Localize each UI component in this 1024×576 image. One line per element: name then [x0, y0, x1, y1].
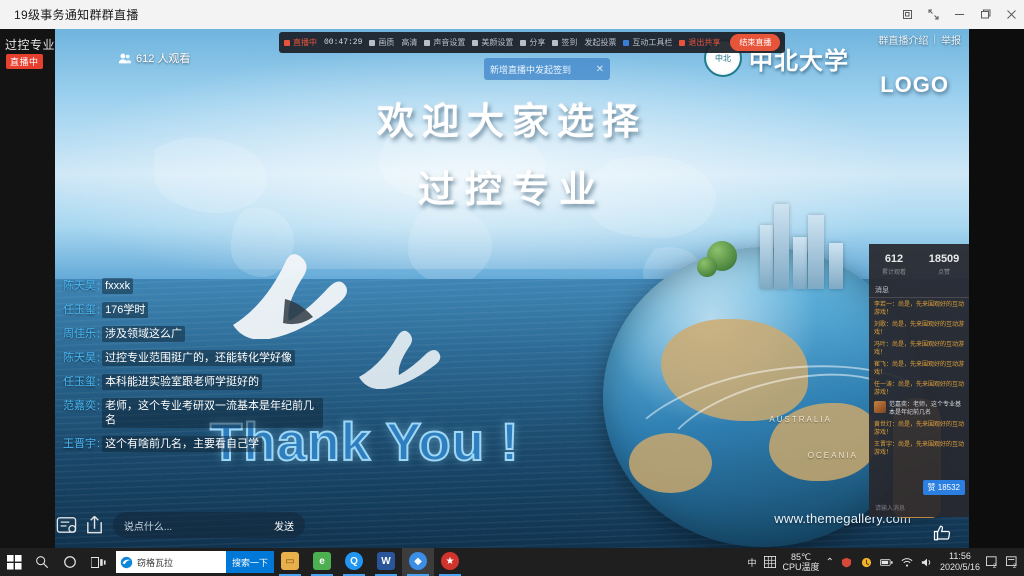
ime-keyboard-icon[interactable]: [763, 555, 777, 569]
camera-icon: [369, 40, 375, 46]
taskbar-app-red-flag[interactable]: ★: [434, 548, 466, 576]
close-icon[interactable]: ✕: [596, 64, 604, 75]
red-star-icon: ★: [441, 552, 459, 570]
chat-message: 范嘉奕: 老师，这个专业考研双一流基本是年纪前几名: [63, 398, 323, 428]
toolbar-item-sound[interactable]: 声音设置: [424, 37, 465, 48]
folder-icon: ▭: [281, 552, 299, 570]
toolbar-item-live[interactable]: 直播中: [284, 37, 317, 48]
toolbar-item-hd[interactable]: 高清: [401, 37, 417, 48]
chat-text: 本科能进实验室跟老师学挺好的: [102, 374, 262, 390]
panel-tab-messages[interactable]: 消息: [869, 282, 969, 298]
city-building: [829, 243, 843, 289]
stat-value: 18509: [919, 253, 969, 265]
chat-text: 这个有啥前几名，主要看自己学: [102, 436, 262, 452]
like-thumb-icon[interactable]: [933, 524, 951, 542]
danmu-item: 黄世灯：尚是，先来围观好的互动游戏！: [874, 421, 964, 437]
toolbar-label: 声音设置: [433, 37, 465, 48]
like-count-label: 赞 18532: [928, 482, 960, 493]
danmu-message-list[interactable]: 李若一：尚是，先来围观好的互动游戏！ 刘歌：尚是，先来围观好的互动游戏！ 冯叶：…: [869, 298, 969, 464]
chat-colon: :: [97, 327, 100, 341]
send-button[interactable]: 发送: [274, 518, 294, 533]
chat-text: 176学时: [102, 302, 148, 318]
green-browser-icon: e: [313, 552, 331, 570]
toolbar-item-quality[interactable]: 画质: [369, 37, 394, 48]
chat-message: 王晋宇: 这个有啥前几名，主要看自己学: [63, 436, 323, 452]
people-icon: [118, 52, 131, 65]
notification-toast: 新增直播中发起签到 ✕: [484, 58, 610, 80]
toolbar-label: 退出共享: [688, 37, 720, 48]
avatar: [874, 401, 886, 413]
location-pin-icon: [552, 40, 558, 46]
viewer-count: 612 人观看: [118, 50, 190, 66]
security-icon[interactable]: [840, 555, 854, 569]
chat-author: 任玉玺: [63, 375, 96, 389]
toolbar-item-beauty[interactable]: 美颜设置: [472, 37, 513, 48]
battery-icon[interactable]: [880, 555, 894, 569]
search-icon[interactable]: [28, 548, 56, 576]
danmu-item: 刘歌：尚是，先来围观好的互动游戏！: [874, 321, 964, 337]
channel-name: 过控专业: [5, 36, 55, 53]
stat-label: 点赞: [919, 267, 969, 276]
volume-icon[interactable]: [920, 555, 934, 569]
svg-text:2: 2: [993, 562, 997, 568]
screenshot-button[interactable]: [894, 0, 920, 29]
chat-colon: :: [97, 375, 100, 389]
chat-text: 过控专业范围挺广的，还能转化学好像: [102, 350, 295, 366]
stat-total-viewers: 612 累计观看: [869, 253, 919, 276]
svg-text:2: 2: [1013, 562, 1017, 568]
chat-text: fxxxk: [102, 278, 133, 294]
tree-graphic: [697, 257, 717, 277]
ime-indicator[interactable]: 中: [748, 556, 757, 569]
danmu-item: 崔飞：尚是，先来围观好的互动游戏！: [874, 361, 964, 377]
chat-colon: :: [97, 399, 100, 413]
share-screen-icon: [520, 40, 526, 46]
toolbar-label: 互动工具栏: [632, 37, 672, 48]
toolbar-label: 发起投票: [584, 37, 616, 48]
danmu-item: 王晋宇：尚是，先来围观好的互动游戏！: [874, 441, 964, 457]
bird-graphic: [355, 319, 445, 389]
city-building: [793, 237, 807, 289]
like-count-badge[interactable]: 赞 18532: [923, 480, 965, 495]
window-title: 19级事务通知群群直播: [0, 6, 139, 23]
danmu-item-with-avatar: 范嘉奕：老师，这个专业基本是年纪前几名: [874, 401, 964, 417]
chat-message: 陈天昊: 过控专业范围挺广的，还能转化学好像: [63, 350, 323, 366]
chat-input-field[interactable]: 说点什么... 发送: [113, 512, 305, 538]
search-query-text: 窃格瓦拉: [137, 556, 173, 569]
chat-author: 陈天昊: [63, 351, 96, 365]
system-tray: 中 85℃ CPU温度 ⌃ 11:56 2020/5/16 2 2: [748, 551, 1024, 573]
chat-overlay-messages: 陈天昊: fxxxk 任玉玺: 176学时 周佳乐: 涉及领域这么广 陈天昊: …: [63, 278, 323, 460]
chat-colon: :: [97, 279, 100, 293]
stat-label: 累计观看: [869, 267, 919, 276]
chat-message: 陈天昊: fxxxk: [63, 278, 323, 294]
windows-start-icon[interactable]: [0, 548, 28, 576]
toolbar-label: 直播中: [293, 37, 317, 48]
stream-elapsed-time: 00:47:29: [324, 38, 362, 47]
cpu-temp-label: CPU温度: [783, 562, 820, 572]
taskbar-search-button[interactable]: 搜索一下: [226, 551, 274, 573]
chat-input-placeholder: 说点什么...: [124, 518, 172, 533]
toast-message: 新增直播中发起签到: [490, 63, 571, 76]
chat-colon: :: [97, 437, 100, 451]
notification-count-icon[interactable]: 2: [986, 555, 1000, 569]
close-button[interactable]: [998, 0, 1024, 29]
city-building: [774, 204, 789, 289]
live-stream-app: 过控专业 直播中: [0, 29, 1024, 548]
taskbar-clock[interactable]: 11:56 2020/5/16: [940, 551, 980, 573]
city-building: [760, 225, 773, 289]
maximize-button[interactable]: [972, 0, 998, 29]
danmu-item: 冯叶：尚是，先来围观好的互动游戏！: [874, 341, 964, 357]
chat-message: 任玉玺: 176学时: [63, 302, 323, 318]
task-view-icon[interactable]: [84, 548, 112, 576]
minimize-button[interactable]: [946, 0, 972, 29]
stats-danmu-panel: 612 累计观看 18509 点赞 消息 李若一：尚是，先来围观好的互动游戏！ …: [869, 244, 969, 517]
toolbar-label: 分享: [529, 37, 545, 48]
toolbar-label: 美颜设置: [481, 37, 513, 48]
link-separator: |: [933, 34, 936, 45]
chat-author: 任玉玺: [63, 303, 96, 317]
danmu-item: 李若一：尚是，先来围观好的互动游戏！: [874, 301, 964, 317]
toolbar-item-signin[interactable]: 签到: [552, 37, 577, 48]
toolbar-label: 签到: [561, 37, 577, 48]
video-stage[interactable]: AUSTRALIA OCEANIA 欢迎大: [55, 29, 969, 548]
message-list-icon[interactable]: [55, 513, 78, 537]
chat-author: 王晋宇: [63, 437, 96, 451]
window-title-bar: 19级事务通知群群直播: [0, 0, 1024, 29]
taskbar-search-box[interactable]: 窃格瓦拉: [116, 551, 226, 573]
taskbar-app-wps-writer[interactable]: W: [370, 548, 402, 576]
chat-colon: :: [97, 351, 100, 365]
chat-text: 老师，这个专业考研双一流基本是年纪前几名: [102, 398, 323, 428]
window-controls: [894, 0, 1024, 29]
taskbar-app-qq-messenger[interactable]: ◆: [402, 548, 434, 576]
chat-author: 范嘉奕: [63, 399, 96, 413]
qq-penguin-icon: ◆: [409, 552, 427, 570]
stat-likes: 18509 点赞: [919, 253, 969, 276]
cortana-icon[interactable]: [56, 548, 84, 576]
live-intro-link[interactable]: 群直播介绍: [878, 32, 928, 47]
taskbar-app-qq-browser[interactable]: Q: [338, 548, 370, 576]
interactive-tools-icon: [623, 40, 629, 46]
city-building: [808, 215, 824, 289]
action-center-icon[interactable]: 2: [1006, 555, 1020, 569]
chat-message: 周佳乐: 涉及领域这么广: [63, 326, 323, 342]
toolbar-item-exit-share[interactable]: 退出共享: [679, 37, 720, 48]
live-dot-icon: [284, 40, 290, 46]
exit-icon: [679, 40, 685, 46]
viewer-count-label: 612 人观看: [136, 50, 190, 66]
edge-icon: [120, 556, 133, 569]
microphone-icon: [424, 40, 430, 46]
chat-text: 涉及领域这么广: [102, 326, 185, 342]
taskbar-app-wechat-green[interactable]: e: [306, 548, 338, 576]
chevron-up-icon[interactable]: ⌃: [826, 557, 834, 568]
toolbar-item-interactive[interactable]: 互动工具栏: [623, 37, 672, 48]
top-right-links: 群直播介绍 | 举报: [878, 32, 961, 47]
chat-author: 陈天昊: [63, 279, 96, 293]
toolbar-item-share[interactable]: 分享: [520, 37, 545, 48]
chat-author: 周佳乐: [63, 327, 96, 341]
cpu-temp-value: 85℃: [783, 552, 820, 562]
beauty-icon: [472, 40, 478, 46]
chat-input-bar: 说点什么... 发送: [55, 508, 305, 542]
cpu-temperature-widget[interactable]: 85℃ CPU温度: [783, 552, 820, 572]
report-link[interactable]: 举报: [941, 32, 961, 47]
taskbar-app-file-explorer[interactable]: ▭: [274, 548, 306, 576]
clock-date: 2020/5/16: [940, 562, 980, 573]
left-rail: 过控专业 直播中: [0, 29, 55, 548]
live-status-badge: 直播中: [6, 54, 43, 69]
stats-row: 612 累计观看 18509 点赞: [869, 244, 969, 282]
wifi-icon[interactable]: [900, 555, 914, 569]
danmu-item-text: 范嘉奕：老师，这个专业基本是年纪前几名: [889, 401, 964, 417]
live-control-toolbar[interactable]: 直播中 00:47:29 画质 高清 声音设置 美颜设置 分享 签到 发起投票 …: [279, 32, 785, 53]
panel-input-hint[interactable]: 请输入消息: [875, 503, 905, 512]
clock-time: 11:56: [940, 551, 980, 562]
logo-placeholder: LOGO: [880, 72, 949, 98]
chat-message: 任玉玺: 本科能进实验室跟老师学挺好的: [63, 374, 323, 390]
qq-browser-icon: Q: [345, 552, 363, 570]
danmu-item: 任一涛：尚是，先来围观好的互动游戏！: [874, 381, 964, 397]
stat-value: 612: [869, 253, 919, 265]
update-icon[interactable]: [860, 555, 874, 569]
restore-size-button[interactable]: [920, 0, 946, 29]
screen-root: 19级事务通知群群直播 过控专业 直播中: [0, 0, 1024, 576]
toolbar-label: 画质: [378, 37, 394, 48]
end-live-button[interactable]: 结束直播: [730, 34, 780, 51]
toolbar-item-vote[interactable]: 发起投票: [584, 37, 616, 48]
windows-taskbar: 窃格瓦拉 搜索一下 ▭ e Q W ◆ ★ 中: [0, 548, 1024, 576]
toolbar-label: 高清: [401, 37, 417, 48]
wps-writer-icon: W: [377, 552, 395, 570]
chat-colon: :: [97, 303, 100, 317]
share-icon[interactable]: [84, 513, 107, 537]
